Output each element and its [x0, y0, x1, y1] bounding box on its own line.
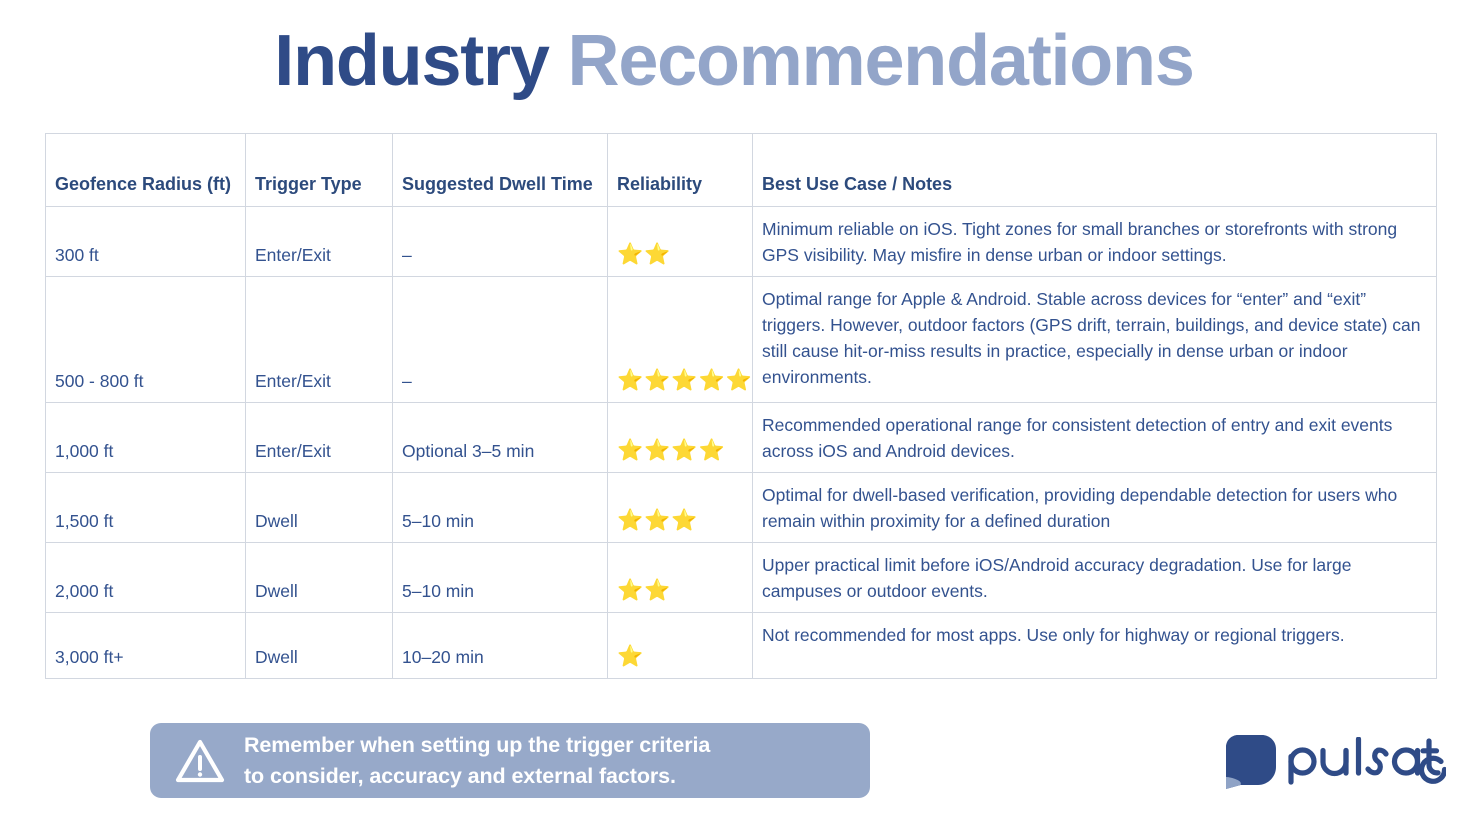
- cell-dwell-time: –: [393, 277, 608, 403]
- notice-line-2: to consider, accuracy and external facto…: [244, 761, 710, 792]
- page-title-secondary: Recommendations: [568, 21, 1194, 101]
- cell-notes: Minimum reliable on iOS. Tight zones for…: [753, 207, 1437, 277]
- table-row: 2,000 ft Dwell 5–10 min ⭐⭐ Upper practic…: [46, 543, 1437, 613]
- cell-reliability: ⭐⭐: [608, 207, 753, 277]
- cell-dwell-time: 5–10 min: [393, 543, 608, 613]
- cell-trigger-type: Dwell: [246, 543, 393, 613]
- cell-notes: Upper practical limit before iOS/Android…: [753, 543, 1437, 613]
- cell-geofence-radius: 300 ft: [46, 207, 246, 277]
- cell-reliability: ⭐⭐⭐: [608, 473, 753, 543]
- table-row: 1,500 ft Dwell 5–10 min ⭐⭐⭐ Optimal for …: [46, 473, 1437, 543]
- cell-trigger-type: Enter/Exit: [246, 207, 393, 277]
- recommendations-table-container: Geofence Radius (ft) Trigger Type Sugges…: [45, 133, 1436, 679]
- cell-notes: Optimal for dwell-based verification, pr…: [753, 473, 1437, 543]
- cell-trigger-type: Dwell: [246, 473, 393, 543]
- cell-dwell-time: –: [393, 207, 608, 277]
- cell-dwell-time: 10–20 min: [393, 613, 608, 679]
- cell-geofence-radius: 3,000 ft+: [46, 613, 246, 679]
- cell-reliability: ⭐: [608, 613, 753, 679]
- cell-dwell-time: Optional 3–5 min: [393, 403, 608, 473]
- page-title: Industry Recommendations: [0, 18, 1468, 104]
- reliability-stars: ⭐⭐⭐: [617, 509, 698, 533]
- warning-triangle-icon: [174, 735, 226, 787]
- table-row: 1,000 ft Enter/Exit Optional 3–5 min ⭐⭐⭐…: [46, 403, 1437, 473]
- page-title-primary: Industry: [274, 21, 548, 101]
- reliability-stars: ⭐⭐: [617, 243, 671, 267]
- pulsate-wordmark: [1286, 737, 1446, 785]
- cell-trigger-type: Enter/Exit: [246, 403, 393, 473]
- cell-notes: Not recommended for most apps. Use only …: [753, 613, 1437, 679]
- column-header-best-use-case-notes: Best Use Case / Notes: [753, 134, 1437, 207]
- cell-trigger-type: Dwell: [246, 613, 393, 679]
- column-header-reliability: Reliability: [608, 134, 753, 207]
- notice-line-1: Remember when setting up the trigger cri…: [244, 730, 710, 761]
- reliability-stars: ⭐: [617, 645, 644, 669]
- cell-reliability: ⭐⭐⭐⭐⭐: [608, 277, 753, 403]
- cell-geofence-radius: 1,000 ft: [46, 403, 246, 473]
- reliability-stars: ⭐⭐: [617, 579, 671, 603]
- table-header-row: Geofence Radius (ft) Trigger Type Sugges…: [46, 134, 1437, 207]
- table-row: 500 - 800 ft Enter/Exit – ⭐⭐⭐⭐⭐ Optimal …: [46, 277, 1437, 403]
- speech-bubble-icon: [1224, 733, 1276, 789]
- cell-trigger-type: Enter/Exit: [246, 277, 393, 403]
- cell-geofence-radius: 500 - 800 ft: [46, 277, 246, 403]
- reliability-stars: ⭐⭐⭐⭐⭐: [617, 369, 753, 393]
- column-header-trigger-type: Trigger Type: [246, 134, 393, 207]
- recommendations-table: Geofence Radius (ft) Trigger Type Sugges…: [45, 133, 1437, 679]
- cell-reliability: ⭐⭐⭐⭐: [608, 403, 753, 473]
- notice-text: Remember when setting up the trigger cri…: [244, 730, 710, 792]
- pulsate-logo: [1224, 730, 1446, 792]
- column-header-suggested-dwell-time: Suggested Dwell Time: [393, 134, 608, 207]
- cell-reliability: ⭐⭐: [608, 543, 753, 613]
- cell-notes: Optimal range for Apple & Android. Stabl…: [753, 277, 1437, 403]
- notice-banner: Remember when setting up the trigger cri…: [150, 723, 870, 798]
- table-row: 3,000 ft+ Dwell 10–20 min ⭐ Not recommen…: [46, 613, 1437, 679]
- cell-notes: Recommended operational range for consis…: [753, 403, 1437, 473]
- cell-dwell-time: 5–10 min: [393, 473, 608, 543]
- cell-geofence-radius: 1,500 ft: [46, 473, 246, 543]
- cell-geofence-radius: 2,000 ft: [46, 543, 246, 613]
- reliability-stars: ⭐⭐⭐⭐: [617, 439, 726, 463]
- table-row: 300 ft Enter/Exit – ⭐⭐ Minimum reliable …: [46, 207, 1437, 277]
- column-header-geofence-radius: Geofence Radius (ft): [46, 134, 246, 207]
